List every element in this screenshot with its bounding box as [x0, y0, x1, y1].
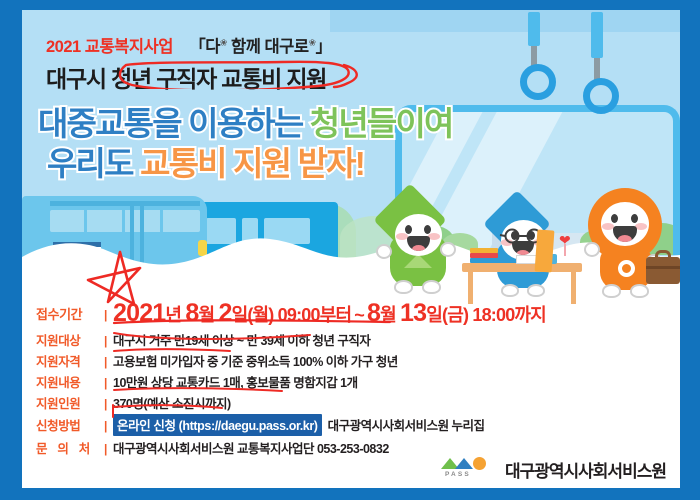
- mascot-eye: [405, 225, 412, 234]
- info-label-period: 접수기간: [36, 304, 104, 323]
- chevron-icon: [404, 254, 432, 268]
- period-start-month-suffix: 월: [199, 305, 219, 325]
- circle-orange-icon: [473, 457, 486, 470]
- headline-line1-part1: 대중교통을 이용하는: [38, 105, 310, 142]
- period-tilde: ~: [351, 305, 367, 325]
- info-value-headcount: 370명(예산 소진시까지): [113, 393, 666, 412]
- mascot-eye: [611, 214, 618, 223]
- mascot-foot: [602, 284, 621, 298]
- slogan-close: 」: [316, 38, 332, 56]
- info-table: 접수기간 | 2021년 8월 2일(월) 09:00부터~8월 13일(금) …: [36, 297, 666, 459]
- header-block: 2021 교통복지사업 「다❀ 함께 대구로❀」 대구시 청년 구직자 교통비 …: [46, 33, 332, 94]
- period-start-month: 8: [185, 299, 198, 327]
- bus-windows: [50, 210, 200, 232]
- footer-logo: PASS 대구광역시사회서비스원: [441, 456, 666, 482]
- slogan-superscript-2: ❀: [309, 38, 316, 48]
- apply-method-note: 대구광역시사회서비스원 누리집: [322, 419, 485, 433]
- period-end-month-suffix: 월: [380, 305, 400, 325]
- mascot-mouth: [613, 226, 637, 242]
- row-divider: |: [104, 419, 113, 433]
- subtitle-circled-text: 청년 구직자 교통비 지원: [111, 66, 326, 92]
- poster-root: ❤ 2021 교통복지사업 「다❀ 함께 대구로❀」 대구시 청년 구직자 교통…: [0, 0, 700, 500]
- period-end-day-suffix: 일(금) 18:00까지: [426, 305, 546, 325]
- frame-border-top: [0, 0, 700, 10]
- city-bus: [22, 196, 207, 274]
- slogan-open: 「다: [189, 38, 220, 56]
- info-value-target: 대구시 거주 만19세 이상 ~ 만 39세 이하 청년 구직자: [113, 330, 666, 349]
- mascot-foot: [394, 280, 413, 294]
- info-row-benefit: 지원내용 | 10만원 상당 교통카드 1매, 홍보물품 명함지갑 1개: [36, 372, 666, 391]
- frame-border-bottom: [0, 488, 700, 500]
- info-label-qualification: 지원자격: [36, 351, 104, 370]
- frame-border-left: [0, 0, 22, 500]
- period-start-day-suffix: 일(월) 09:00부터: [232, 305, 352, 325]
- program-title-line: 2021 교통복지사업 「다❀ 함께 대구로❀」: [46, 33, 332, 57]
- info-value-benefit: 10만원 상당 교통카드 1매, 홍보물품 명함지갑 1개: [113, 372, 666, 391]
- heart-icon: ❤: [559, 233, 571, 247]
- info-label-apply-method: 신청방법: [36, 415, 104, 434]
- bus-door: [140, 206, 144, 266]
- mascot-mouth: [407, 236, 430, 251]
- frame-border-right: [680, 0, 700, 500]
- subway-train: [188, 202, 338, 274]
- info-value-apply-method: 온라인 신청 (https://daegu.pass.or.kr)대구광역시사회…: [113, 414, 666, 436]
- mascot-eye: [631, 214, 638, 223]
- info-row-qualification: 지원자격 | 고용보험 미가입자 중 기준 중위소득 100% 이하 가구 청년: [36, 351, 666, 370]
- bus-door: [130, 206, 134, 266]
- slogan-superscript-1: ❀: [220, 38, 227, 48]
- mascot-face: [601, 202, 649, 246]
- train-skirt: [188, 262, 338, 274]
- row-divider: |: [104, 397, 113, 411]
- headline-line2-part2: 교통비 지원 받자!: [140, 145, 364, 182]
- info-label-headcount: 지원인원: [36, 393, 104, 412]
- stacked-books: [470, 247, 498, 263]
- info-value-period: 2021년 8월 2일(월) 09:00부터~8월 13일(금) 18:00까지: [113, 299, 546, 328]
- info-value-qualification: 고용보험 미가입자 중 기준 중위소득 100% 이하 가구 청년: [113, 351, 666, 370]
- subtitle-prefix: 대구시: [46, 66, 111, 92]
- info-value-contact: 대구광역시사회서비스원 교통복지사업단 053-253-0832: [113, 438, 666, 457]
- pass-logo-mark: PASS: [441, 456, 497, 482]
- info-label-contact: 문 의 처: [36, 438, 104, 457]
- briefcase-icon: [646, 257, 680, 284]
- subtitle-line: 대구시 청년 구직자 교통비 지원: [46, 60, 332, 94]
- period-start-year-suffix: 년: [165, 305, 185, 325]
- green-mascot: [376, 192, 470, 296]
- info-row-period: 접수기간 | 2021년 8월 2일(월) 09:00부터~8월 13일(금) …: [36, 297, 666, 326]
- slogan-mid: 함께 대구로: [227, 38, 309, 56]
- period-start-year: 2021: [113, 299, 165, 327]
- headline-line2-part1: 우리도: [47, 145, 140, 182]
- bus-wheel: [94, 257, 120, 283]
- headline-line-1: 대중교통을 이용하는 청년들이여: [38, 104, 453, 144]
- organization-name: 대구광역시사회서비스원: [505, 457, 666, 482]
- period-end-day: 13: [400, 299, 426, 327]
- bus-headlight: [198, 240, 207, 256]
- program-year: 2021 교통복지사업: [46, 38, 173, 56]
- mascot-hand: [440, 242, 456, 257]
- bus-destination-sign: [53, 242, 101, 258]
- body-emblem: [618, 260, 635, 277]
- main-headline: 대중교통을 이용하는 청년들이여 우리도 교통비 지원 받자!: [38, 104, 453, 185]
- bus-wheel: [36, 257, 62, 283]
- orange-notebook: [535, 229, 555, 272]
- mascot-foot: [422, 280, 441, 294]
- mascot-hand: [376, 244, 392, 259]
- mascot-face: [395, 214, 442, 256]
- row-divider: |: [104, 355, 113, 369]
- chevron-blue-icon: [455, 458, 473, 469]
- online-application-link[interactable]: 온라인 신청 (https://daegu.pass.or.kr): [113, 414, 322, 436]
- info-row-apply-method: 신청방법 | 온라인 신청 (https://daegu.pass.or.kr)…: [36, 414, 666, 436]
- logo-wordmark: PASS: [445, 471, 471, 478]
- headline-line-2: 우리도 교통비 지원 받자!: [47, 144, 453, 184]
- row-divider: |: [104, 442, 113, 456]
- train-window: [264, 218, 310, 244]
- info-label-benefit: 지원내용: [36, 372, 104, 391]
- info-row-headcount: 지원인원 | 370명(예산 소진시까지): [36, 393, 666, 412]
- period-end-month: 8: [367, 299, 380, 327]
- headline-line1-part2: 청년들이여: [310, 105, 453, 142]
- row-divider: |: [104, 376, 113, 390]
- period-start-day: 2: [218, 299, 231, 327]
- row-divider: |: [104, 334, 113, 348]
- row-divider: |: [104, 308, 113, 322]
- train-window: [242, 218, 258, 244]
- mascot-hand: [584, 242, 600, 257]
- bus-roofline: [50, 201, 200, 206]
- subway-ceiling-band: [330, 10, 680, 32]
- info-row-target: 지원대상 | 대구시 거주 만19세 이상 ~ 만 39세 이하 청년 구직자: [36, 330, 666, 349]
- subway-strap-left: [520, 12, 556, 108]
- info-row-contact: 문 의 처 | 대구광역시사회서비스원 교통복지사업단 053-253-0832: [36, 438, 666, 457]
- info-label-target: 지원대상: [36, 330, 104, 349]
- subway-strap-right: [583, 12, 619, 122]
- mascot-foot: [630, 284, 649, 298]
- train-window: [206, 218, 236, 244]
- desk-surface: [462, 263, 582, 272]
